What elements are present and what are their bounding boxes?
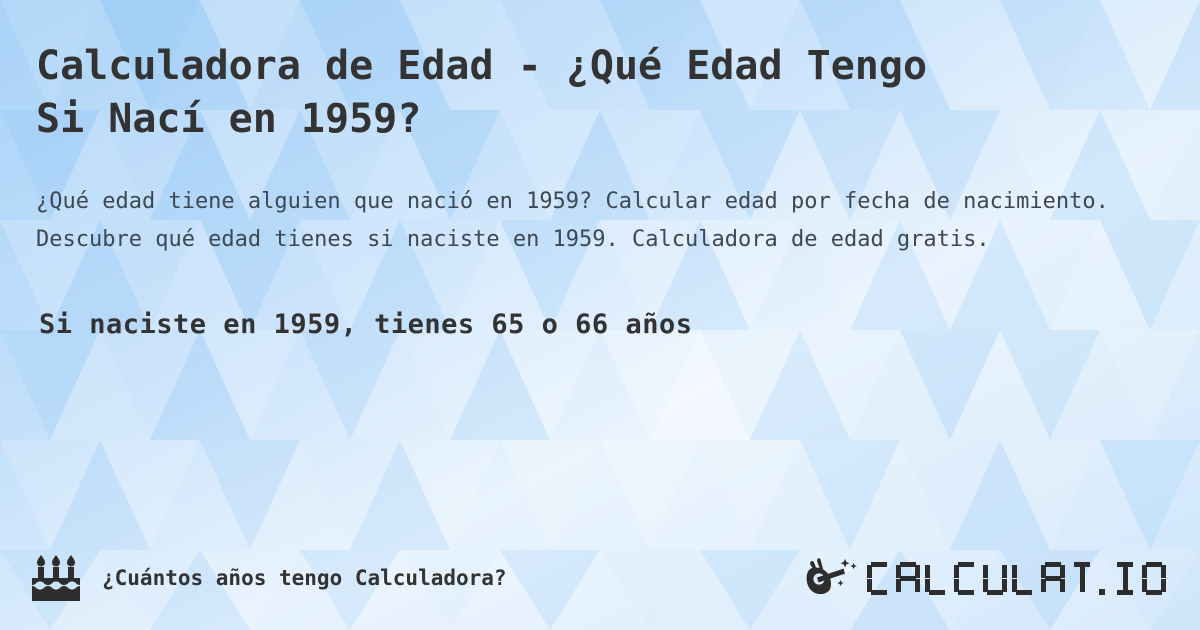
- page-description: ¿Qué edad tiene alguien que nació en 195…: [36, 183, 1141, 259]
- age-answer-text: Si naciste en 1959, tienes 65 o 66 años: [39, 309, 1170, 340]
- page-container: Calculadora de Edad - ¿Qué Edad Tengo Si…: [0, 0, 1200, 630]
- page-title-line-2: Si Nací en 1959?: [36, 96, 421, 142]
- page-title: Calculadora de Edad - ¿Qué Edad Tengo Si…: [36, 40, 1170, 146]
- page-title-line-1: Calculadora de Edad - ¿Qué Edad Tengo: [36, 43, 927, 89]
